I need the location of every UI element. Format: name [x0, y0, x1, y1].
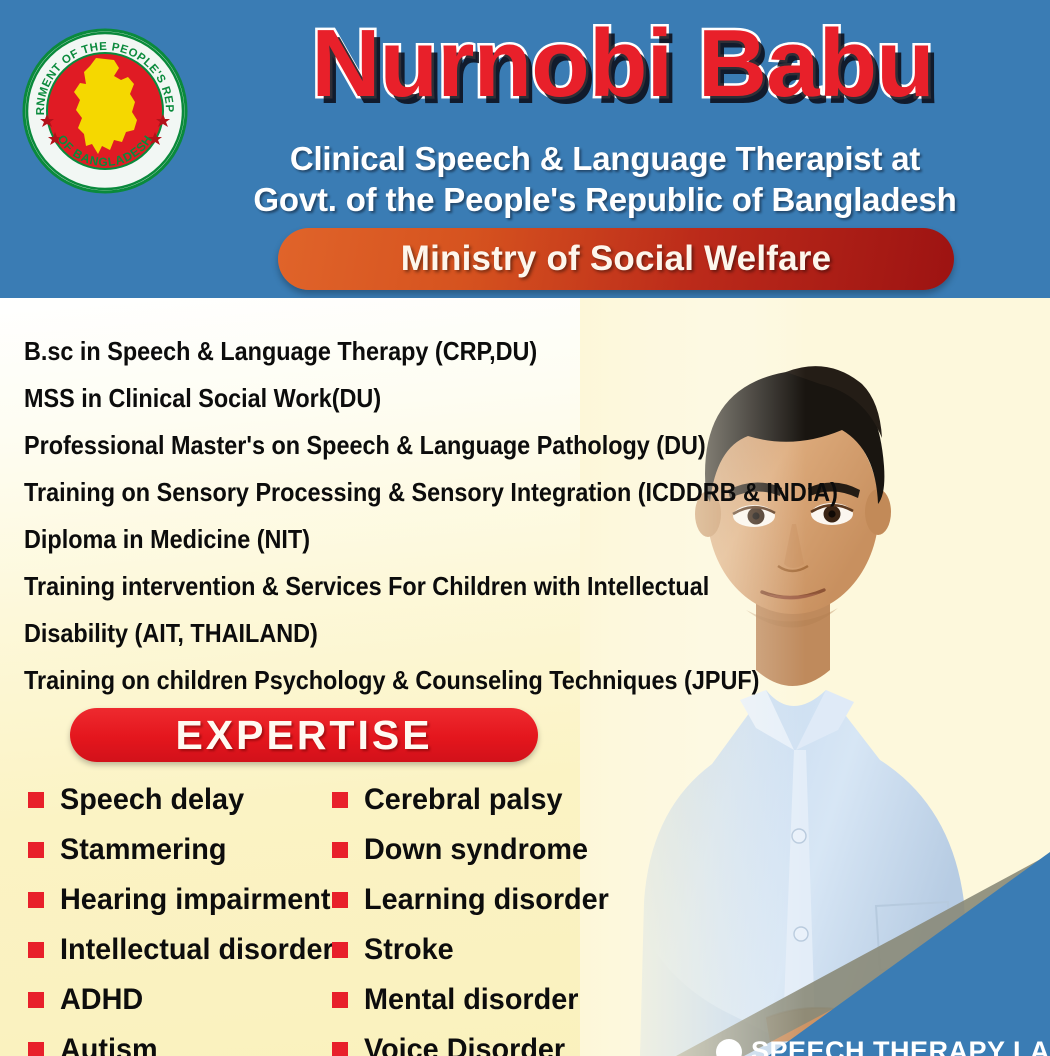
- square-bullet-icon: [28, 1042, 44, 1056]
- subtitle-line-2: Govt. of the People's Republic of Bangla…: [170, 179, 1040, 220]
- expertise-column-right: Cerebral palsy Down syndrome Learning di…: [332, 775, 619, 1056]
- expertise-item: Learning disorder: [332, 875, 619, 925]
- brand-label: SPEECH THERAPY LAB: [751, 1036, 1050, 1056]
- qualification-item: Diploma in Medicine (NIT): [24, 516, 690, 563]
- expertise-item: Cerebral palsy: [332, 775, 619, 825]
- expertise-item: Mental disorder: [332, 975, 619, 1025]
- qualification-item: Training on Sensory Processing & Sensory…: [24, 469, 690, 516]
- expertise-badge-label: EXPERTISE: [175, 712, 432, 759]
- expertise-label: ADHD: [60, 983, 143, 1017]
- square-bullet-icon: [28, 942, 44, 958]
- expertise-item: ADHD: [28, 975, 345, 1025]
- expertise-label: Speech delay: [60, 783, 244, 817]
- brand-footer: SPEECH THERAPY LAB: [716, 1036, 1050, 1056]
- subtitle-block: Clinical Speech & Language Therapist at …: [170, 138, 1040, 220]
- expertise-badge: EXPERTISE: [70, 708, 538, 762]
- square-bullet-icon: [332, 1042, 348, 1056]
- square-bullet-icon: [332, 792, 348, 808]
- page-title: Nurnobi Babu: [205, 12, 1040, 116]
- qualification-item: Training on children Psychology & Counse…: [24, 657, 690, 704]
- expertise-label: Cerebral palsy: [364, 783, 563, 817]
- square-bullet-icon: [332, 942, 348, 958]
- bangladesh-government-seal-icon: GOVERNMENT OF THE PEOPLE'S REPUBLIC OF B…: [22, 28, 188, 194]
- expertise-label: Stroke: [364, 933, 454, 967]
- expertise-label: Hearing impairment: [60, 883, 330, 917]
- expertise-label: Intellectual disorder: [60, 933, 334, 967]
- square-bullet-icon: [332, 992, 348, 1008]
- expertise-item: Autism: [28, 1025, 345, 1056]
- square-bullet-icon: [28, 892, 44, 908]
- expertise-item: Speech delay: [28, 775, 345, 825]
- expertise-label: Stammering: [60, 833, 226, 867]
- square-bullet-icon: [28, 792, 44, 808]
- expertise-item: Down syndrome: [332, 825, 619, 875]
- expertise-label: Autism: [60, 1033, 158, 1056]
- expertise-label: Down syndrome: [364, 833, 588, 867]
- subtitle-line-1: Clinical Speech & Language Therapist at: [170, 138, 1040, 179]
- ministry-label: Ministry of Social Welfare: [401, 239, 832, 279]
- qualification-item: Training intervention & Services For Chi…: [24, 563, 690, 610]
- qualification-item: B.sc in Speech & Language Therapy (CRP,D…: [24, 328, 690, 375]
- square-bullet-icon: [332, 892, 348, 908]
- qualification-item: Professional Master's on Speech & Langua…: [24, 422, 690, 469]
- expertise-column-left: Speech delay Stammering Hearing impairme…: [28, 775, 345, 1056]
- square-bullet-icon: [28, 992, 44, 1008]
- ministry-badge: Ministry of Social Welfare: [278, 228, 954, 290]
- square-bullet-icon: [332, 842, 348, 858]
- qualification-item: MSS in Clinical Social Work(DU): [24, 375, 690, 422]
- poster-header: GOVERNMENT OF THE PEOPLE'S REPUBLIC OF B…: [0, 0, 1050, 298]
- expertise-label: Mental disorder: [364, 983, 578, 1017]
- expertise-item: Voice Disorder: [332, 1025, 619, 1056]
- poster-root: GOVERNMENT OF THE PEOPLE'S REPUBLIC OF B…: [0, 0, 1050, 1056]
- circle-logo-icon: [716, 1039, 742, 1056]
- expertise-label: Learning disorder: [364, 883, 609, 917]
- expertise-item: Hearing impairment: [28, 875, 345, 925]
- expertise-label: Voice Disorder: [364, 1033, 565, 1056]
- expertise-item: Stammering: [28, 825, 345, 875]
- expertise-item: Intellectual disorder: [28, 925, 345, 975]
- square-bullet-icon: [28, 842, 44, 858]
- qualifications-list: B.sc in Speech & Language Therapy (CRP,D…: [24, 328, 764, 704]
- expertise-item: Stroke: [332, 925, 619, 975]
- qualification-item: Disability (AIT, THAILAND): [24, 610, 690, 657]
